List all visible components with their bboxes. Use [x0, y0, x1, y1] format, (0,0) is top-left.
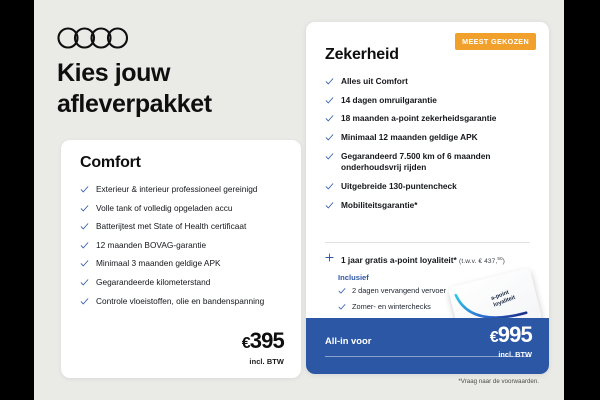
zekerheid-title: Zekerheid — [325, 46, 399, 64]
check-icon — [80, 259, 89, 268]
loyalty-value-prefix: (t.w.v. € 437, — [459, 258, 497, 265]
list-item: Uitgebreide 130-puntencheck — [325, 181, 537, 192]
list-item: Batterijtest met State of Health certifi… — [80, 221, 285, 232]
comfort-title: Comfort — [80, 154, 141, 172]
loyalty-addon-row: 1 jaar gratis a-point loyaliteit* (t.w.v… — [325, 253, 549, 267]
list-item-label: Batterijtest met State of Health certifi… — [96, 221, 246, 231]
check-icon — [80, 222, 89, 231]
price-amount: 995 — [498, 322, 532, 347]
list-item-label: Gegarandeerde kilometerstand — [96, 277, 210, 287]
footnote: *Vraag naar de voorwaarden. — [306, 378, 549, 385]
check-icon — [80, 204, 89, 213]
check-icon — [325, 114, 334, 123]
letterbox-right — [564, 0, 600, 400]
check-icon — [80, 241, 89, 250]
list-item: Minimaal 12 maanden geldige APK — [325, 132, 537, 143]
currency-symbol: € — [242, 335, 250, 352]
check-icon — [80, 185, 89, 194]
list-item-label: Uitgebreide 130-puntencheck — [341, 181, 457, 191]
list-item: Gegarandeerde kilometerstand — [80, 277, 285, 288]
slide-stage: Kies jouw afleverpakket Comfort Exterieu… — [0, 0, 600, 400]
left-column: Kies jouw afleverpakket Comfort Exterieu… — [34, 0, 304, 400]
check-icon — [325, 77, 334, 86]
list-item: Controle vloeistoffen, olie en bandenspa… — [80, 296, 285, 307]
check-icon — [338, 303, 346, 311]
list-item: Minimaal 3 maanden geldige APK — [80, 258, 285, 269]
comfort-package-card[interactable]: Comfort Exterieur & interieur profession… — [61, 140, 301, 378]
audi-rings-icon — [57, 27, 129, 49]
list-item: 18 maanden a-point zekerheidsgarantie — [325, 113, 537, 124]
list-item-label: Gegarandeerd 7.500 km of 6 maanden onder… — [341, 151, 490, 172]
check-icon — [325, 182, 334, 191]
list-item: Exterieur & interieur professioneel gere… — [80, 184, 285, 195]
zekerheid-price-bar: All-in voor €995 incl. BTW — [306, 318, 549, 374]
zekerheid-price-note: incl. BTW — [490, 350, 532, 359]
list-item-label: 18 maanden a-point zekerheidsgarantie — [341, 113, 496, 123]
letterbox-left — [0, 0, 34, 400]
list-item: Volle tank of volledig opgeladen accu — [80, 203, 285, 214]
loyalty-label: 1 jaar gratis a-point loyaliteit* — [341, 255, 457, 265]
comfort-price: €395 — [242, 329, 284, 356]
price-amount: 395 — [250, 328, 284, 353]
inclusief-heading: Inclusief — [338, 273, 369, 282]
list-item-label: Volle tank of volledig opgeladen accu — [96, 203, 233, 213]
page-title: Kies jouw afleverpakket — [57, 58, 287, 120]
loyalty-value-suffix: ) — [503, 258, 505, 265]
list-item: Mobiliteitsgarantie* — [325, 200, 537, 211]
list-item-label: 12 maanden BOVAG-garantie — [96, 240, 206, 250]
comfort-price-block: €395 incl. BTW — [242, 329, 284, 366]
zekerheid-package-card[interactable]: MEEST GEKOZEN Zekerheid Alles uit Comfor… — [306, 22, 549, 374]
list-item-label: Zomer- en winterchecks — [352, 302, 431, 311]
zekerheid-price-block: €995 incl. BTW — [490, 323, 532, 359]
list-item: Gegarandeerd 7.500 km of 6 maanden onder… — [325, 151, 537, 174]
plus-icon — [325, 253, 334, 263]
comfort-feature-list: Exterieur & interieur professioneel gere… — [80, 184, 285, 314]
list-item-label: Alles uit Comfort — [341, 76, 408, 86]
check-icon — [325, 201, 334, 210]
check-icon — [325, 152, 334, 161]
slide-canvas: Kies jouw afleverpakket Comfort Exterieu… — [34, 0, 564, 400]
headline-line-1: Kies jouw — [57, 58, 287, 89]
list-item-label: Minimaal 3 maanden geldige APK — [96, 258, 221, 268]
check-icon — [80, 278, 89, 287]
zekerheid-price: €995 — [490, 323, 532, 350]
list-item-label: Minimaal 12 maanden geldige APK — [341, 132, 478, 142]
zekerheid-feature-list: Alles uit Comfort 14 dagen omruilgaranti… — [325, 76, 537, 218]
headline-line-2: afleverpakket — [57, 89, 287, 120]
status-badge: MEEST GEKOZEN — [455, 33, 536, 50]
check-icon — [325, 133, 334, 142]
loyalty-value: (t.w.v. € 437,50) — [459, 258, 505, 265]
list-item-label: Mobiliteitsgarantie* — [341, 200, 418, 210]
check-icon — [338, 287, 346, 295]
comfort-price-note: incl. BTW — [242, 357, 284, 366]
list-item: 12 maanden BOVAG-garantie — [80, 240, 285, 251]
check-icon — [325, 96, 334, 105]
list-item-label: 2 dagen vervangend vervoer — [352, 286, 446, 295]
check-icon — [80, 297, 89, 306]
list-item-label: Exterieur & interieur professioneel gere… — [96, 184, 257, 194]
list-item-label: 14 dagen omruilgarantie — [341, 95, 437, 105]
list-item: Alles uit Comfort — [325, 76, 537, 87]
list-item: 14 dagen omruilgarantie — [325, 95, 537, 106]
divider — [325, 242, 530, 243]
currency-symbol: € — [490, 329, 498, 346]
list-item-label: Controle vloeistoffen, olie en bandenspa… — [96, 296, 264, 306]
allin-label: All-in voor — [325, 335, 371, 346]
